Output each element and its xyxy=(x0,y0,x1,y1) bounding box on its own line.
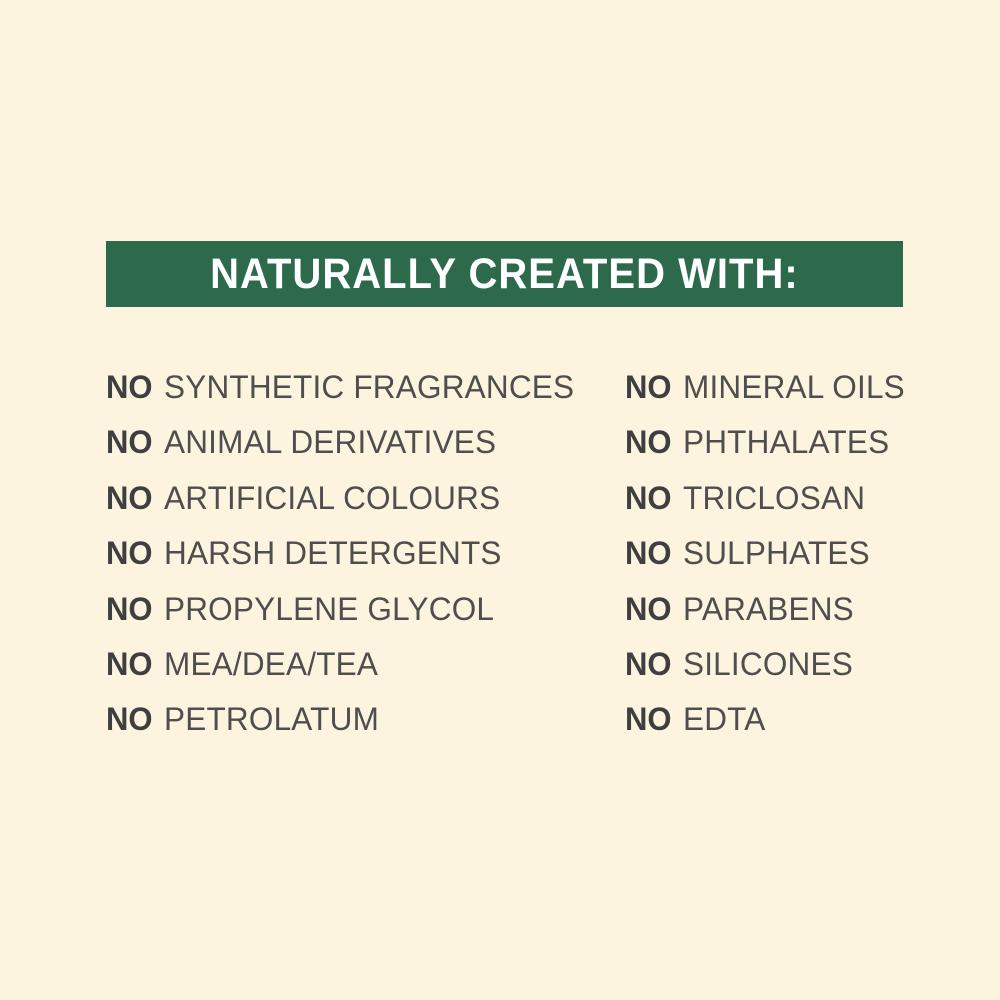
ingredient-label: PETROLATUM xyxy=(164,702,379,736)
ingredient-label: PARABENS xyxy=(683,592,854,626)
list-item: NO HARSH DETERGENTS xyxy=(106,536,625,591)
no-label: NO xyxy=(625,592,672,626)
left-column: NO SYNTHETIC FRAGRANCES NO ANIMAL DERIVA… xyxy=(106,370,625,758)
ingredient-label: PROPYLENE GLYCOL xyxy=(164,592,494,626)
no-label: NO xyxy=(106,370,153,404)
ingredient-free-claims-page: NATURALLY CREATED WITH: NO SYNTHETIC FRA… xyxy=(0,0,1000,1000)
list-item: NO ARTIFICIAL COLOURS xyxy=(106,481,625,536)
no-label: NO xyxy=(625,647,672,681)
ingredient-label: SULPHATES xyxy=(683,536,870,570)
ingredient-label: ARTIFICIAL COLOURS xyxy=(164,481,500,515)
no-label: NO xyxy=(625,425,672,459)
no-label: NO xyxy=(625,536,672,570)
list-item: NO MEA/DEA/TEA xyxy=(106,647,625,702)
ingredient-label: ANIMAL DERIVATIVES xyxy=(164,425,496,459)
ingredient-label: PHTHALATES xyxy=(683,425,889,459)
ingredient-label: SYNTHETIC FRAGRANCES xyxy=(164,370,574,404)
ingredient-label: EDTA xyxy=(683,702,766,736)
no-ingredients-list: NO SYNTHETIC FRAGRANCES NO ANIMAL DERIVA… xyxy=(106,370,903,758)
no-label: NO xyxy=(106,425,153,459)
list-item: NO SYNTHETIC FRAGRANCES xyxy=(106,370,625,425)
no-label: NO xyxy=(106,536,153,570)
no-label: NO xyxy=(625,370,672,404)
list-item: NO ANIMAL DERIVATIVES xyxy=(106,425,625,480)
list-item: NO PROPYLENE GLYCOL xyxy=(106,592,625,647)
list-item: NO MINERAL OILS xyxy=(625,370,903,425)
list-item: NO SULPHATES xyxy=(625,536,903,591)
no-label: NO xyxy=(625,481,672,515)
list-item: NO SILICONES xyxy=(625,647,903,702)
right-column: NO MINERAL OILS NO PHTHALATES NO TRICLOS… xyxy=(625,370,903,758)
banner-title: NATURALLY CREATED WITH: xyxy=(210,253,799,296)
no-label: NO xyxy=(106,702,153,736)
ingredient-label: MINERAL OILS xyxy=(683,370,905,404)
no-label: NO xyxy=(106,481,153,515)
list-item: NO PETROLATUM xyxy=(106,702,625,757)
ingredient-label: MEA/DEA/TEA xyxy=(164,647,378,681)
no-label: NO xyxy=(625,702,672,736)
list-item: NO TRICLOSAN xyxy=(625,481,903,536)
list-item: NO PARABENS xyxy=(625,592,903,647)
banner: NATURALLY CREATED WITH: xyxy=(106,241,903,307)
no-label: NO xyxy=(106,592,153,626)
list-item: NO PHTHALATES xyxy=(625,425,903,480)
ingredient-label: HARSH DETERGENTS xyxy=(164,536,502,570)
ingredient-label: TRICLOSAN xyxy=(683,481,865,515)
no-label: NO xyxy=(106,647,153,681)
ingredient-label: SILICONES xyxy=(683,647,853,681)
list-item: NO EDTA xyxy=(625,702,903,757)
